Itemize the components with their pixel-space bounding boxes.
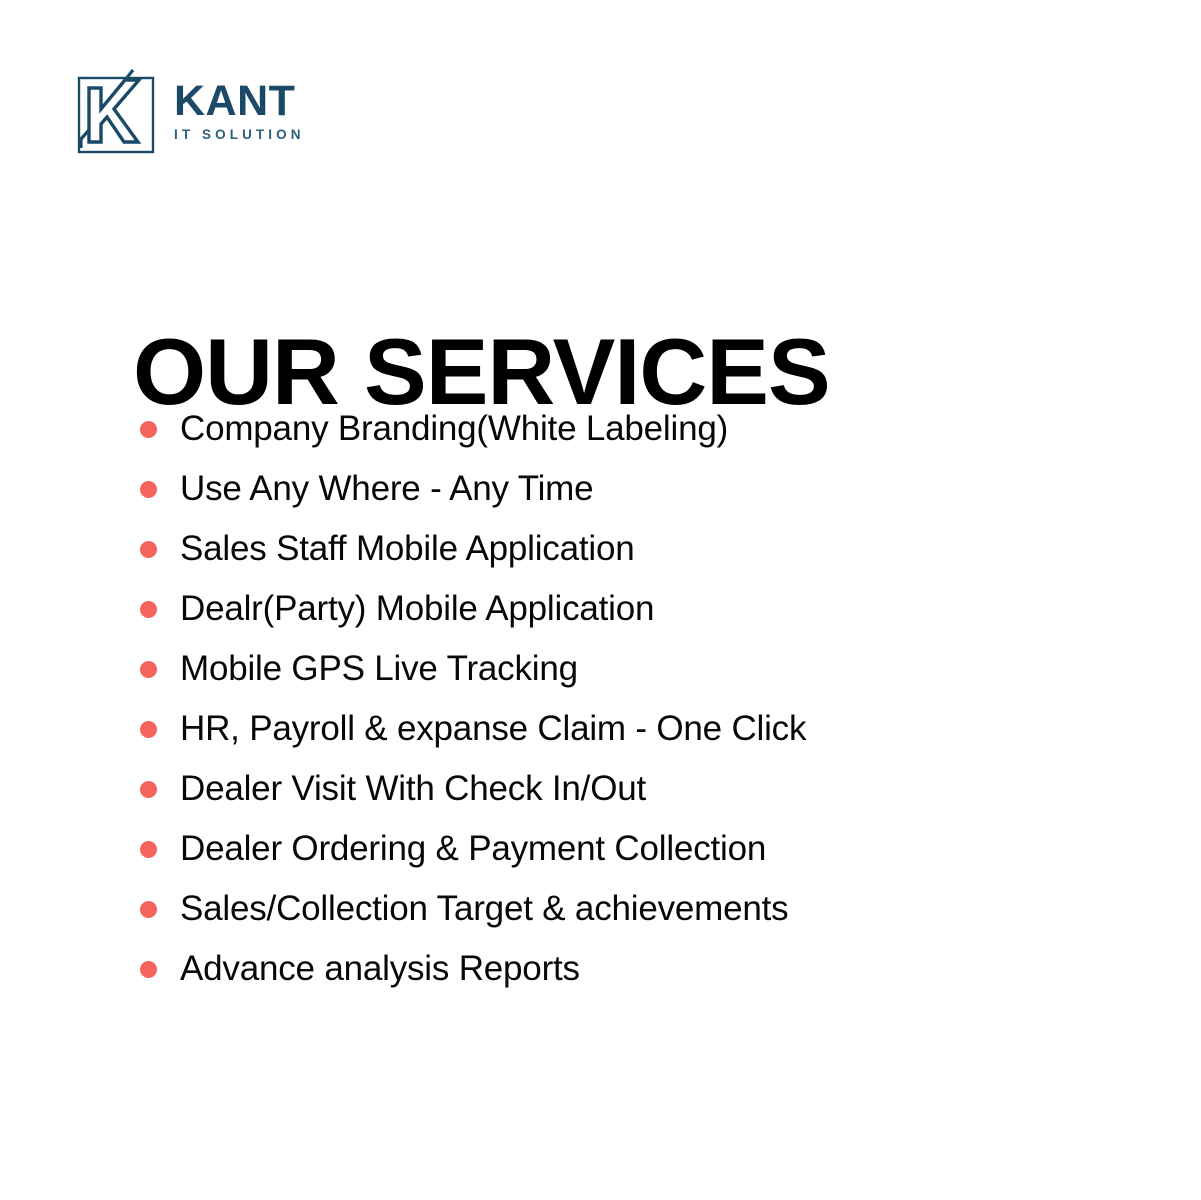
brand-logo: KANT IT SOLUTION (76, 64, 305, 154)
list-item: Use Any Where - Any Time (140, 468, 1140, 528)
bullet-icon (140, 841, 157, 858)
brand-wordmark-group: KANT IT SOLUTION (174, 76, 305, 143)
list-item: Dealer Ordering & Payment Collection (140, 828, 1140, 888)
list-item: Sales Staff Mobile Application (140, 528, 1140, 588)
bullet-icon (140, 961, 157, 978)
list-item-label: Mobile GPS Live Tracking (180, 648, 578, 690)
bullet-icon (140, 481, 157, 498)
list-item: HR, Payroll & expanse Claim - One Click (140, 708, 1140, 768)
kant-k-monogram-icon (76, 64, 158, 154)
list-item: Company Branding(White Labeling) (140, 408, 1140, 468)
brand-tagline: IT SOLUTION (174, 128, 305, 143)
list-item-label: Company Branding(White Labeling) (180, 408, 728, 450)
list-item-label: Use Any Where - Any Time (180, 468, 593, 510)
services-list: Company Branding(White Labeling) Use Any… (140, 408, 1140, 1008)
brand-wordmark: KANT (174, 80, 295, 122)
list-item: Mobile GPS Live Tracking (140, 648, 1140, 708)
list-item: Dealr(Party) Mobile Application (140, 588, 1140, 648)
list-item-label: Advance analysis Reports (180, 948, 580, 990)
list-item-label: Dealer Visit With Check In/Out (180, 768, 646, 810)
list-item-label: Sales/Collection Target & achievements (180, 888, 788, 930)
page-title: OUR SERVICES (133, 325, 830, 419)
bullet-icon (140, 541, 157, 558)
list-item-label: Sales Staff Mobile Application (180, 528, 634, 570)
bullet-icon (140, 601, 157, 618)
bullet-icon (140, 661, 157, 678)
list-item-label: Dealer Ordering & Payment Collection (180, 828, 766, 870)
bullet-icon (140, 781, 157, 798)
list-item: Advance analysis Reports (140, 948, 1140, 1008)
list-item: Dealer Visit With Check In/Out (140, 768, 1140, 828)
list-item-label: HR, Payroll & expanse Claim - One Click (180, 708, 806, 750)
bullet-icon (140, 721, 157, 738)
bullet-icon (140, 901, 157, 918)
list-item-label: Dealr(Party) Mobile Application (180, 588, 654, 630)
bullet-icon (140, 421, 157, 438)
list-item: Sales/Collection Target & achievements (140, 888, 1140, 948)
